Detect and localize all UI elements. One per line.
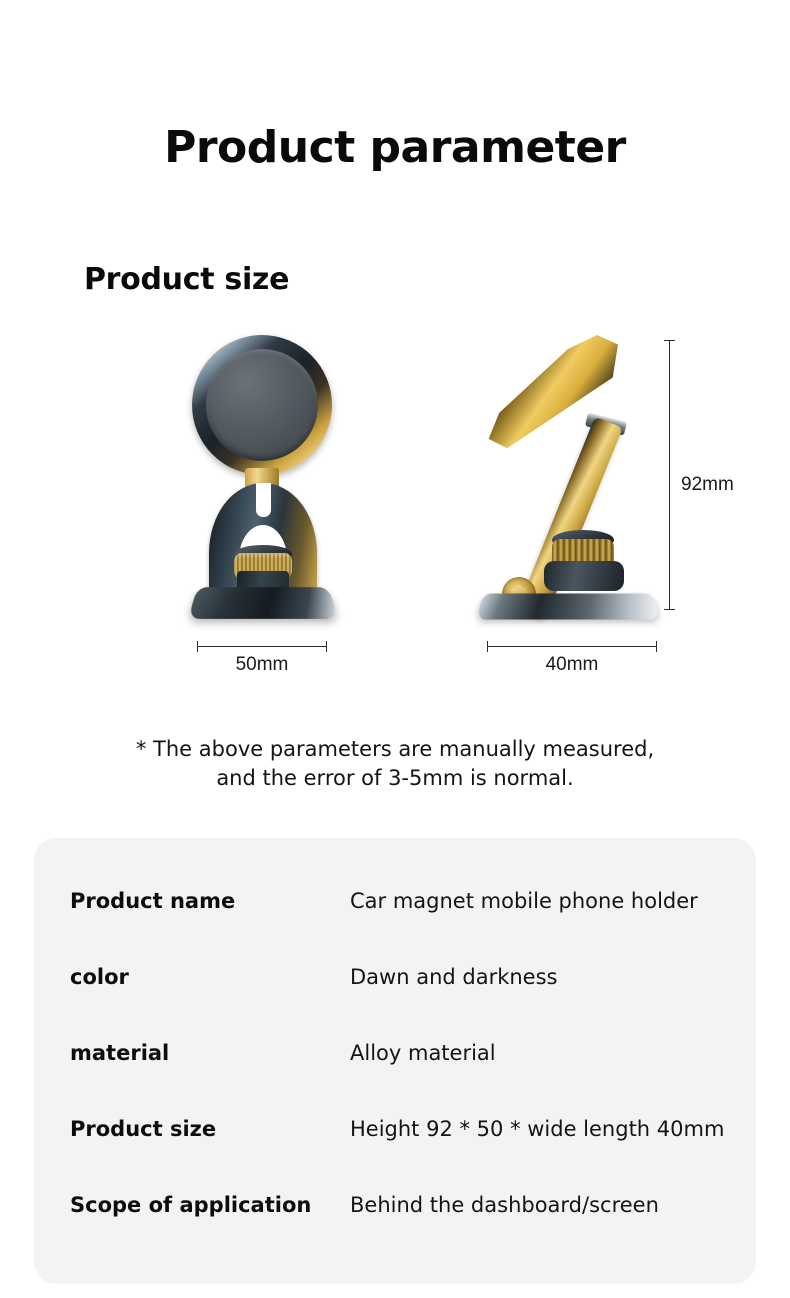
base-plate xyxy=(188,587,338,619)
section-title-product-size: Product size xyxy=(84,262,289,297)
product-image-side-view xyxy=(478,333,668,628)
measurement-note: * The above parameters are manually meas… xyxy=(0,735,790,793)
spec-label: Scope of application xyxy=(70,1193,311,1217)
spec-value: Car magnet mobile phone holder xyxy=(350,889,698,913)
product-image-front-view xyxy=(185,335,340,625)
product-illustrations xyxy=(0,325,790,625)
page-title: Product parameter xyxy=(0,122,790,173)
fork-slot xyxy=(256,483,271,517)
dimension-label-height: 92mm xyxy=(681,474,734,496)
swivel-joint-side xyxy=(544,561,624,591)
spec-value: Dawn and darkness xyxy=(350,965,558,989)
table-row: Product size Height 92 * 50 * wide lengt… xyxy=(34,1109,756,1149)
spec-label: color xyxy=(70,965,129,989)
dimension-line-height xyxy=(669,340,670,610)
dimension-label-width-side: 40mm xyxy=(487,654,657,676)
base-plate-side xyxy=(477,593,660,619)
measurement-note-line-2: and the error of 3-5mm is normal. xyxy=(0,764,790,793)
specification-panel: Product name Car magnet mobile phone hol… xyxy=(34,838,756,1284)
table-row: material Alloy material xyxy=(34,1033,756,1073)
magnetic-disc-ring-icon xyxy=(192,335,332,475)
dimension-label-width-front: 50mm xyxy=(197,654,327,676)
spec-value: Behind the dashboard/screen xyxy=(350,1193,659,1217)
measurement-note-line-1: * The above parameters are manually meas… xyxy=(0,735,790,764)
table-row: Product name Car magnet mobile phone hol… xyxy=(34,881,756,921)
spec-value: Alloy material xyxy=(350,1041,496,1065)
magnetic-disc-face xyxy=(206,349,318,461)
dimension-line-width-front xyxy=(197,646,327,647)
table-row: color Dawn and darkness xyxy=(34,957,756,997)
table-row: Scope of application Behind the dashboar… xyxy=(34,1185,756,1225)
spec-label: Product size xyxy=(70,1117,216,1141)
dimension-line-width-side xyxy=(487,646,657,647)
spec-value: Height 92 * 50 * wide length 40mm xyxy=(350,1117,724,1141)
spec-label: material xyxy=(70,1041,169,1065)
product-parameter-page: Product parameter Product size xyxy=(0,0,790,1298)
spec-label: Product name xyxy=(70,889,235,913)
